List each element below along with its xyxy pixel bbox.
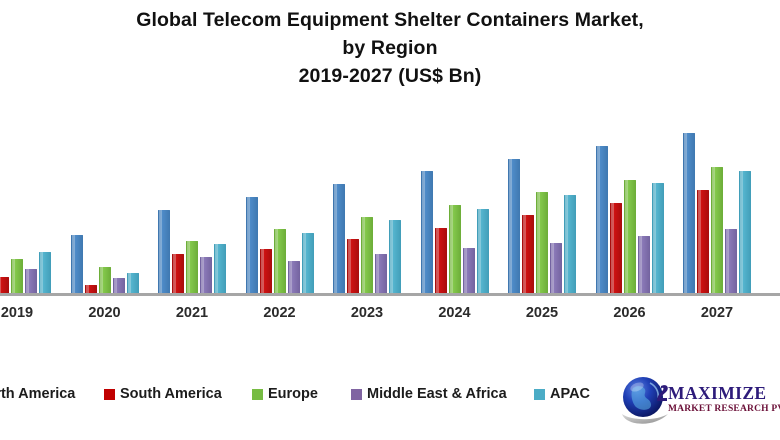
chart-title: Global Telecom Equipment Shelter Contain… [0, 6, 780, 90]
bar-middle-east-africa-2022[interactable] [288, 261, 300, 294]
legend-swatch-icon [534, 389, 545, 400]
chart-title-line-2: by Region [0, 34, 780, 62]
bar-north-america-2023[interactable] [333, 184, 345, 294]
bar-middle-east-africa-2024[interactable] [463, 248, 475, 294]
legend-item-europe[interactable]: Europe [252, 386, 318, 402]
legend-label: North America [0, 386, 75, 402]
bar-group-2027 [683, 104, 751, 294]
legend-label: Middle East & Africa [367, 386, 507, 402]
bar-apac-2021[interactable] [214, 244, 226, 294]
bar-apac-2024[interactable] [477, 209, 489, 295]
legend-label: Europe [268, 386, 318, 402]
bar-group-2019 [0, 104, 51, 294]
x-tick-2021: 2021 [152, 305, 232, 321]
bar-europe-2021[interactable] [186, 241, 198, 294]
bar-europe-2019[interactable] [11, 259, 23, 294]
bar-middle-east-africa-2026[interactable] [638, 236, 650, 294]
bar-group-2025 [508, 104, 576, 294]
globe-icon [620, 374, 672, 426]
legend-item-apac[interactable]: APAC [534, 386, 590, 402]
bar-north-america-2020[interactable] [71, 235, 83, 294]
bar-apac-2026[interactable] [652, 183, 664, 294]
bar-europe-2023[interactable] [361, 217, 373, 294]
legend-swatch-icon [351, 389, 362, 400]
bar-south-america-2023[interactable] [347, 239, 359, 294]
bar-north-america-2024[interactable] [421, 171, 433, 294]
x-tick-2023: 2023 [327, 305, 407, 321]
x-tick-2025: 2025 [502, 305, 582, 321]
legend-item-south-america[interactable]: South America [104, 386, 222, 402]
chart-title-line-1: Global Telecom Equipment Shelter Contain… [0, 6, 780, 34]
bar-middle-east-africa-2023[interactable] [375, 254, 387, 294]
bar-north-america-2021[interactable] [158, 210, 170, 294]
bar-south-america-2027[interactable] [697, 190, 709, 294]
legend-swatch-icon [252, 389, 263, 400]
bar-apac-2025[interactable] [564, 195, 576, 294]
x-tick-2020: 2020 [65, 305, 145, 321]
bar-group-2021 [158, 104, 226, 294]
bar-europe-2026[interactable] [624, 180, 636, 294]
bar-south-america-2022[interactable] [260, 249, 272, 294]
plot-area [0, 104, 780, 294]
x-tick-2022: 2022 [240, 305, 320, 321]
bar-north-america-2022[interactable] [246, 197, 258, 294]
bar-chart: Global Telecom Equipment Shelter Contain… [0, 0, 780, 440]
bar-south-america-2021[interactable] [172, 254, 184, 294]
legend-swatch-icon [104, 389, 115, 400]
legend-item-north-america[interactable]: North America [0, 386, 75, 402]
bar-europe-2020[interactable] [99, 267, 111, 294]
bar-north-america-2025[interactable] [508, 159, 520, 294]
bar-group-2024 [421, 104, 489, 294]
bar-apac-2023[interactable] [389, 220, 401, 294]
bar-middle-east-africa-2025[interactable] [550, 243, 562, 294]
logo-text: MAXIMIZE MARKET RESEARCH PVT [668, 384, 780, 415]
bar-middle-east-africa-2027[interactable] [725, 229, 737, 294]
bar-group-2026 [596, 104, 664, 294]
x-axis-line [0, 293, 780, 296]
legend-item-middle-east-africa[interactable]: Middle East & Africa [351, 386, 507, 402]
x-tick-2024: 2024 [415, 305, 495, 321]
bar-europe-2025[interactable] [536, 192, 548, 294]
bar-europe-2024[interactable] [449, 205, 461, 294]
bar-south-america-2019[interactable] [0, 277, 9, 294]
legend-label: South America [120, 386, 222, 402]
bar-south-america-2025[interactable] [522, 215, 534, 294]
bar-apac-2027[interactable] [739, 171, 751, 295]
bar-group-2022 [246, 104, 314, 294]
x-tick-2019: 2019 [0, 305, 57, 321]
bar-middle-east-africa-2019[interactable] [25, 269, 37, 294]
x-axis-tick-labels: 201920202021202220232024202520262027 [0, 305, 780, 329]
bar-apac-2022[interactable] [302, 233, 314, 294]
bar-north-america-2026[interactable] [596, 146, 608, 294]
chart-title-line-3: 2019-2027 (US$ Bn) [0, 62, 780, 90]
logo-sub-text: MARKET RESEARCH PVT [668, 403, 780, 415]
bar-south-america-2024[interactable] [435, 228, 447, 295]
bar-middle-east-africa-2021[interactable] [200, 257, 212, 294]
bar-apac-2020[interactable] [127, 273, 139, 294]
x-tick-2026: 2026 [590, 305, 670, 321]
bar-europe-2022[interactable] [274, 229, 286, 294]
bar-middle-east-africa-2020[interactable] [113, 278, 125, 294]
bar-north-america-2027[interactable] [683, 133, 695, 294]
bar-group-2023 [333, 104, 401, 294]
logo-main-text: MAXIMIZE [668, 384, 780, 403]
bar-group-2020 [71, 104, 139, 294]
bar-south-america-2026[interactable] [610, 203, 622, 294]
legend: North AmericaSouth AmericaEuropeMiddle E… [0, 386, 620, 410]
bar-europe-2027[interactable] [711, 167, 723, 294]
x-tick-2027: 2027 [677, 305, 757, 321]
company-logo: MAXIMIZE MARKET RESEARCH PVT [618, 370, 780, 436]
bar-apac-2019[interactable] [39, 252, 51, 294]
legend-label: APAC [550, 386, 590, 402]
